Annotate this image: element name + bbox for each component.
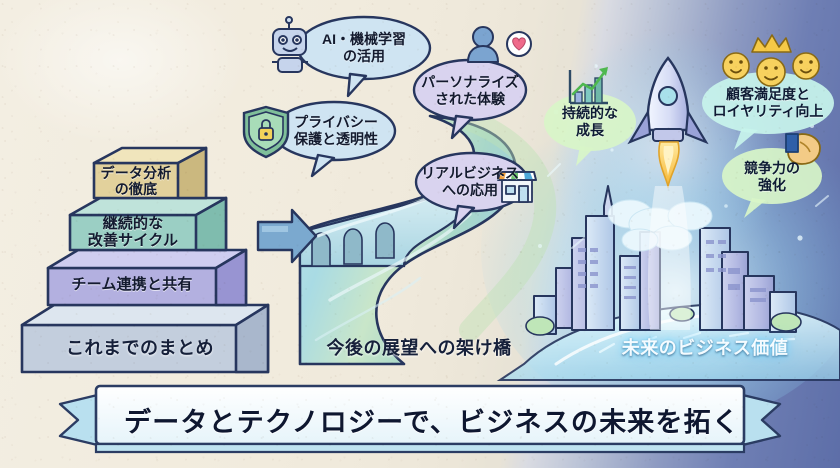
bubble-satisfaction-label: 顧客満足度と ロイヤリティ向上 [706,86,830,120]
bubble-privacy[interactable]: プライバシー 保護と透明性 [284,106,388,156]
bubble-competitive-label: 競争力の 強化 [728,160,816,194]
bubble-ai-label: AI・機械学習 の活用 [312,31,416,65]
smileys-crown-icon [723,35,819,86]
person-heart-icon [468,27,531,62]
bubble-realbiz-label: リアルビジネス への応用 [420,165,520,199]
bubble-realbiz[interactable]: リアルビジネス への応用 [420,158,520,206]
bubble-privacy-label: プライバシー 保護と透明性 [284,114,388,148]
robot-icon [272,17,308,72]
bubble-personalization-label: パーソナライズ された体験 [416,74,524,108]
bubble-satisfaction[interactable]: 顧客満足度と ロイヤリティ向上 [706,80,830,126]
caption-future: 未来のビジネス価値 [580,338,830,359]
pyramid-step-1-label: データ分析 の徹底 [94,165,178,197]
bubble-growth[interactable]: 持続的な 成長 [548,100,632,144]
bubble-competitive[interactable]: 競争力の 強化 [728,155,816,199]
caption-bridge: 今後の展望への架け橋 [300,338,538,359]
infographic-canvas: データ分析 の徹底 継続的な 改善サイクル チーム連携と共有 これまでのまとめ … [0,0,840,468]
pyramid-step-2-label: 継続的な 改善サイクル [68,215,198,250]
banner-title: データとテクノロジーで、ビジネスの未来を拓く [124,401,720,440]
bubble-growth-label: 持続的な 成長 [548,105,632,139]
pyramid-step-3-label: チーム連携と共有 [48,276,216,293]
caption-past: これまでのまとめ [24,338,256,359]
shield-lock-icon [244,107,288,157]
bubble-ai[interactable]: AI・機械学習 の活用 [312,22,416,74]
banner: データとテクノロジーで、ビジネスの未来を拓く [52,382,792,458]
bubble-personalization[interactable]: パーソナライズ された体験 [416,66,524,116]
